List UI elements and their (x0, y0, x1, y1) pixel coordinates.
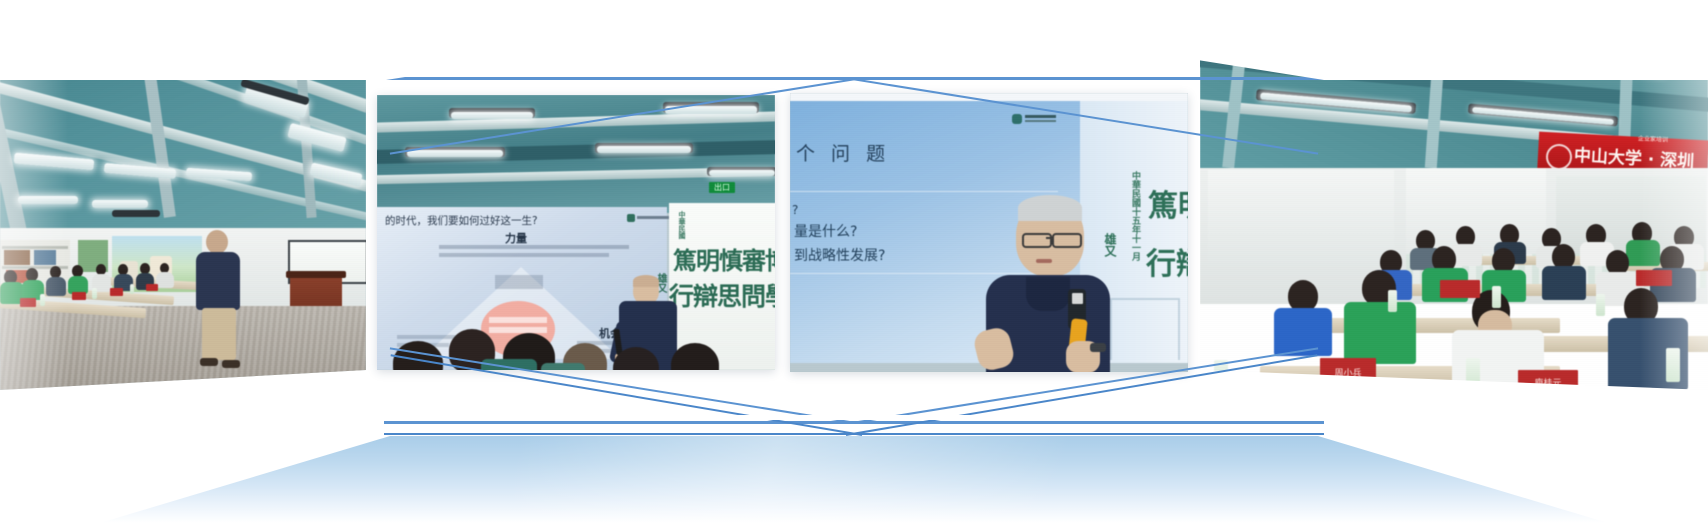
photo-speaker-with-slide: 出口 的时代，我们要如何过好这一生? 力量 机会 (377, 95, 775, 370)
frame-top-edge (384, 77, 1324, 80)
carousel-slide-center-left[interactable]: 出口 的时代，我们要如何过好这一生? 力量 机会 (377, 95, 775, 370)
frame-floor-edge (384, 433, 1324, 435)
frame-bottom-edge (384, 421, 1324, 424)
photo-speaker-closeup: 个 问 题 ? 量是什么? 到战略性发展? 篤明 行辯 中華民國十五年十一月 雄… (790, 93, 1188, 372)
carousel-slide-left[interactable] (0, 18, 366, 390)
photo-lecture-room-wide (0, 18, 366, 390)
floor-sheen (0, 436, 1708, 523)
carousel-stage: 出口 的时代，我们要如何过好这一生? 力量 机会 (0, 0, 1708, 523)
carousel-slide-center-right[interactable]: 个 问 题 ? 量是什么? 到战略性发展? 篤明 行辯 中華民國十五年十一月 雄… (790, 93, 1188, 372)
carousel-slide-right[interactable]: 中山大学 · 深圳 企业家培训 (1200, 18, 1708, 390)
photo-audience-seated: 中山大学 · 深圳 企业家培训 (1200, 18, 1708, 390)
